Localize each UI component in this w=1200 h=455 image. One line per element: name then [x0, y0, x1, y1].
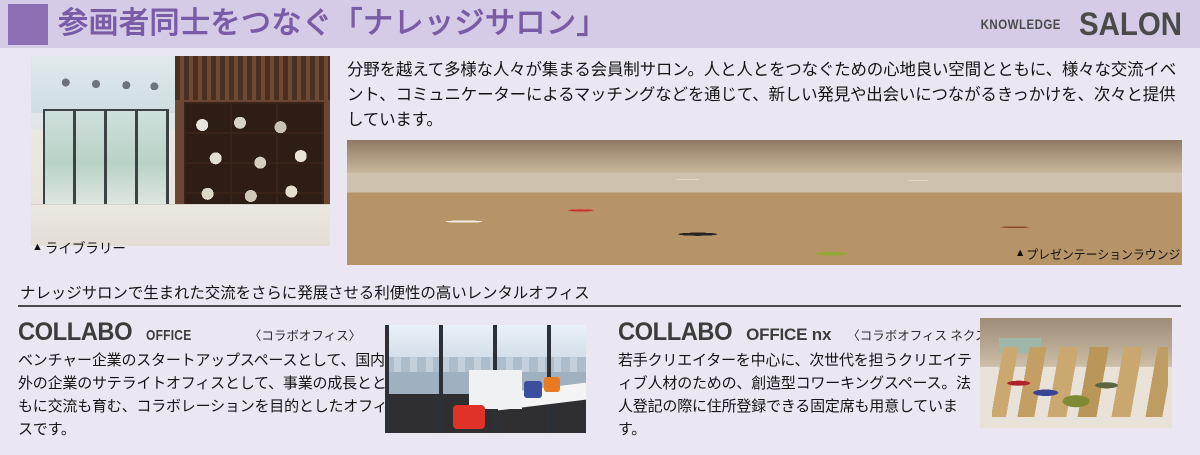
header-accent-swatch — [8, 4, 48, 45]
collabo-wordmark: COLLABO — [18, 318, 132, 347]
caption-triangle-icon: ▲ — [1015, 248, 1025, 259]
section-divider — [18, 305, 1181, 307]
gallery-item-caption: ▲ プレゼンテーションラウンジ — [1015, 244, 1164, 263]
intro-paragraph: 分野を越えて多様な人々が集まる会員制サロン。人と人とをつなぐための心地良い空間と… — [347, 58, 1187, 133]
collabo-office-nx-subtitle: OFFICE nx — [746, 325, 831, 345]
collabo-office-kana: 〈コラボオフィス〉 — [249, 325, 361, 344]
library-photo-caption: ▲ ライブラリー — [32, 237, 126, 257]
gallery-caption-text: プレゼンテーションラウンジ — [1026, 244, 1180, 263]
gallery-item: ▲ プレゼンテーションラウンジ — [1015, 140, 1172, 265]
page-header: 参画者同士をつなぐ「ナレッジサロン」 KNOWLEDGE SALON — [0, 0, 1200, 48]
subsection-heading: ナレッジサロンで生まれた交流をさらに発展させる利便性の高いレンタルオフィス — [20, 281, 590, 303]
gallery-strip: ▲ メインラウンジ ▲ カフェラウンジ ▲ プロジェクトルーム — [347, 140, 1182, 265]
page-title: 参画者同士をつなぐ「ナレッジサロン」 — [58, 3, 607, 45]
collabo-nx-wordmark: COLLABO — [618, 318, 732, 347]
presentation-lounge-photo — [1015, 140, 1172, 241]
intro-paragraph-block: 分野を越えて多様な人々が集まる会員制サロン。人と人とをつなぐための心地良い空間と… — [347, 58, 1187, 133]
collabo-office-nx-kana: 〈コラボオフィス ネクス〉 — [847, 325, 1000, 344]
brand-lockup: KNOWLEDGE SALON — [963, 0, 1182, 48]
collabo-office-body: ベンチャー企業のスタートアップスペースとして、国内外の企業のサテライトオフィスと… — [18, 349, 390, 441]
brand-knowledge-label: KNOWLEDGE — [981, 16, 1061, 32]
library-photo — [31, 56, 330, 246]
knowledge-salon-page: 参画者同士をつなぐ「ナレッジサロン」 KNOWLEDGE SALON ▲ ライブ… — [0, 0, 1200, 455]
brand-salon-label: SALON — [1079, 7, 1182, 41]
caption-triangle-icon: ▲ — [32, 242, 43, 253]
collabo-office-nx-body: 若手クリエイターを中心に、次世代を担うクリエイティブ人材のための、創造型コワーキ… — [618, 349, 976, 441]
collabo-office-subtitle: OFFICE — [146, 327, 191, 344]
collabo-office-nx-photo — [980, 318, 1172, 428]
collabo-office-photo — [385, 325, 586, 433]
library-caption-text: ライブラリー — [45, 237, 126, 257]
